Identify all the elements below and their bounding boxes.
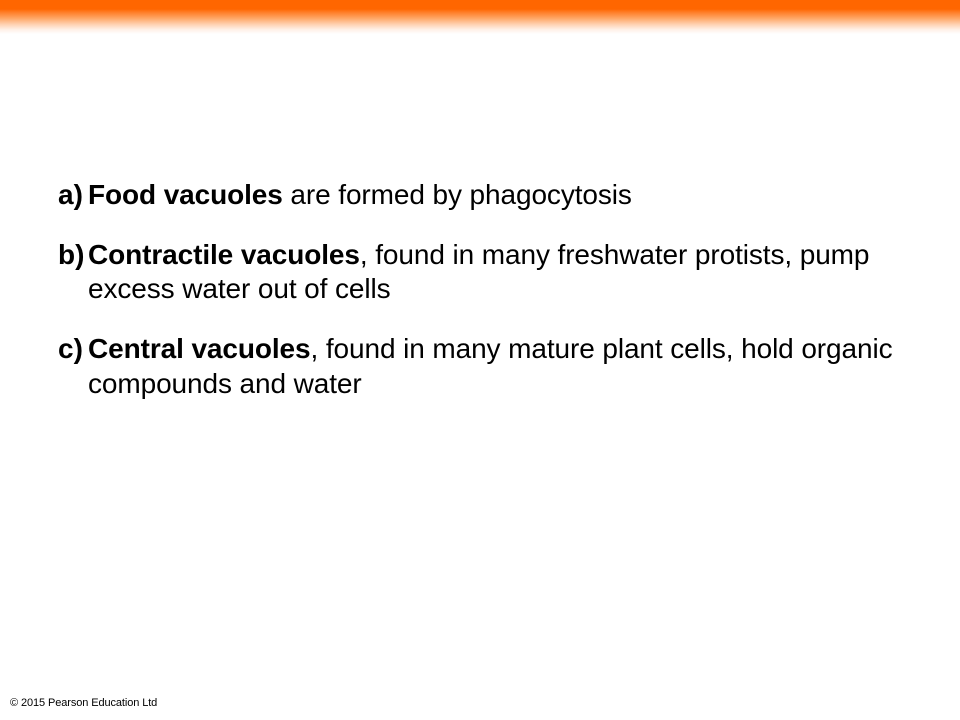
slide-canvas: a) Food vacuoles are formed by phagocyto… (0, 0, 960, 720)
list-item-lead-c: Central vacuoles (88, 333, 311, 364)
list-item: b) Contractile vacuoles, found in many f… (58, 238, 928, 306)
orange-gradient-band (0, 0, 960, 34)
list-item-text-c: Central vacuoles, found in many mature p… (88, 332, 928, 400)
content-list: a) Food vacuoles are formed by phagocyto… (58, 178, 928, 401)
list-marker-b: b) (58, 238, 88, 272)
list-marker-a: a) (58, 178, 88, 212)
list-item-lead-b: Contractile vacuoles (88, 239, 360, 270)
list-marker-c: c) (58, 332, 88, 366)
list-item-lead-a: Food vacuoles (88, 179, 283, 210)
list-item-text-b: Contractile vacuoles, found in many fres… (88, 238, 928, 306)
list-item: a) Food vacuoles are formed by phagocyto… (58, 178, 928, 212)
band-solid-stripe (0, 0, 960, 9)
copyright-notice: © 2015 Pearson Education Ltd (10, 697, 157, 709)
list-item-rest-a: are formed by phagocytosis (283, 179, 632, 210)
band-gradient-fade (0, 9, 960, 34)
list-item: c) Central vacuoles, found in many matur… (58, 332, 928, 400)
list-item-text-a: Food vacuoles are formed by phagocytosis (88, 178, 928, 212)
